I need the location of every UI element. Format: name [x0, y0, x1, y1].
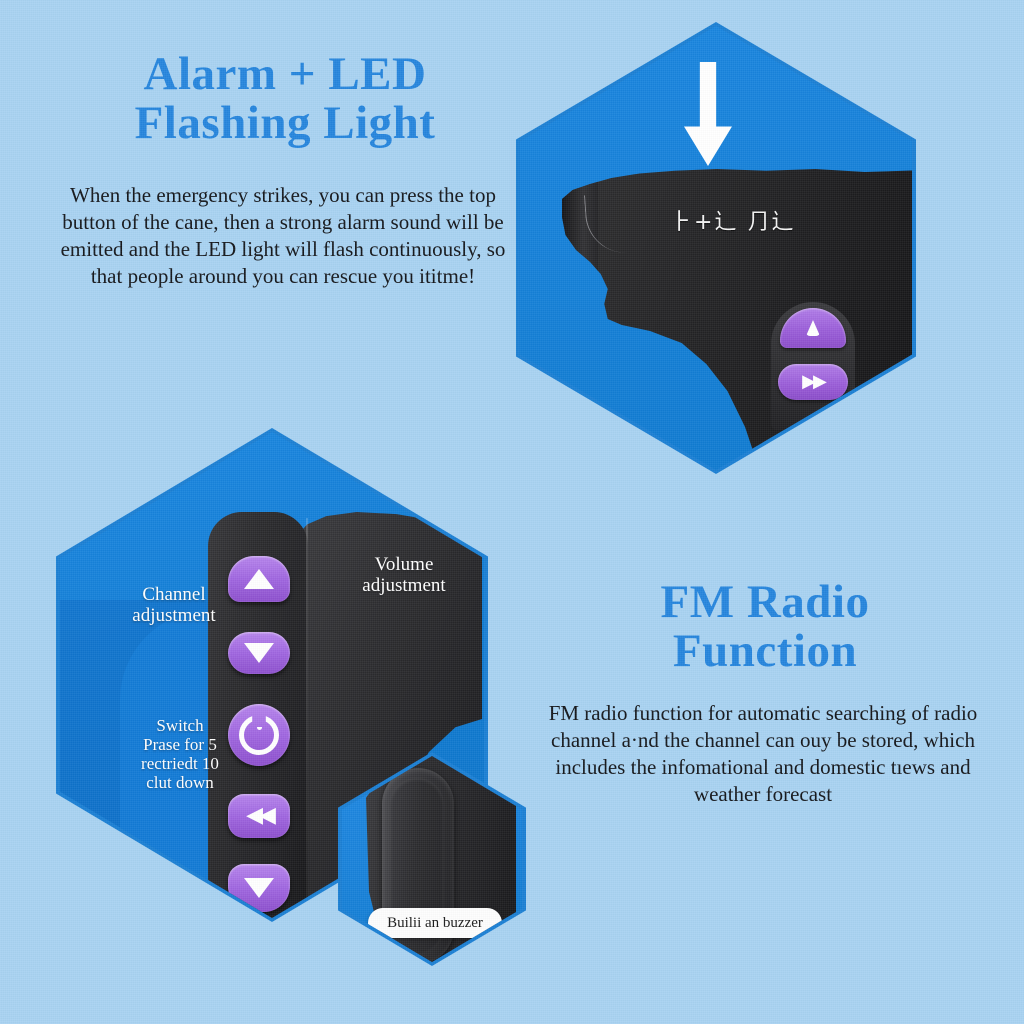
remote-seam	[306, 518, 308, 918]
buzzer-caption-pill: Builii an buzzer	[368, 908, 502, 938]
triangle-down-icon	[244, 643, 274, 663]
rewind-button[interactable]: ◀◀	[228, 794, 290, 838]
triangle-down-icon	[244, 878, 274, 898]
fm-radio-body-text: FM radio function for automatic searchin…	[528, 700, 998, 808]
cane-handle-hexagon-inner: ⺊+⻌ ⺆⻌ ▶▶	[520, 26, 912, 470]
switch-instruction-label: Switch Prase for 5 rectriedt 10 clut dow…	[100, 716, 260, 792]
buzzer-caption-text: Builii an buzzer	[387, 915, 483, 932]
alarm-headline: Alarm + LED Flashing Light	[40, 50, 530, 149]
rewind-icon: ◀◀	[246, 805, 272, 827]
volume-down-button[interactable]	[228, 864, 290, 912]
channel-adjustment-label: Channel adjustment	[84, 584, 264, 627]
fast-forward-icon: ▶▶	[802, 373, 824, 391]
infographic-poster: Alarm + LED Flashing Light When the emer…	[0, 0, 1024, 1024]
fast-forward-button[interactable]: ▶▶	[778, 364, 848, 400]
cane-handle-hexagon: ⺊+⻌ ⺆⻌ ▶▶	[516, 22, 916, 474]
down-arrow-icon	[684, 62, 732, 166]
alarm-body-text: When the emergency strikes, you can pres…	[58, 182, 508, 290]
channel-down-button[interactable]	[228, 632, 290, 674]
fm-radio-headline: FM Radio Function	[520, 578, 1010, 677]
volume-adjustment-label: Volume adjustment	[314, 554, 484, 597]
handle-engraved-glyphs: ⺊+⻌ ⺆⻌	[670, 204, 820, 238]
water-drop-icon	[806, 320, 820, 336]
